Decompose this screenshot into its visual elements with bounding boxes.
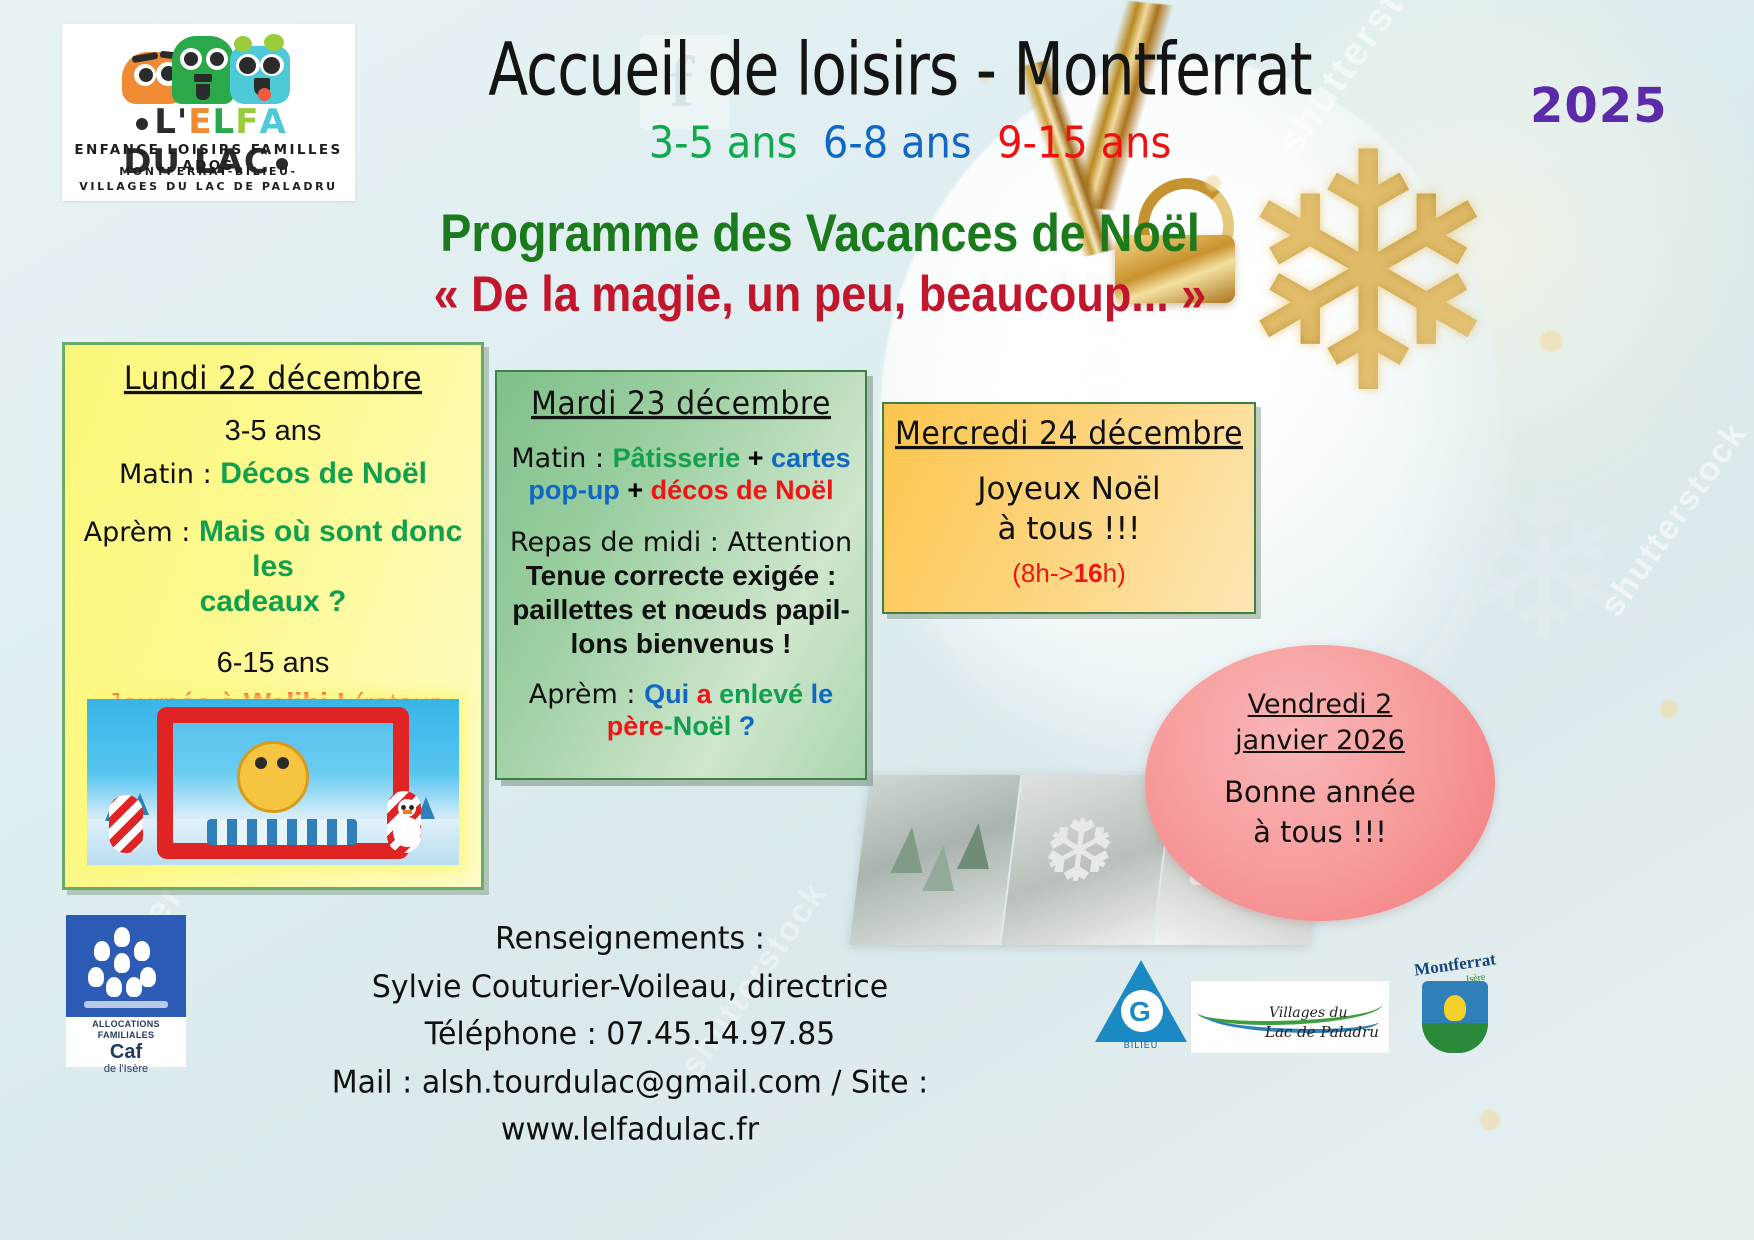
day-card-wednesday: Mercredi 24 décembre Joyeux Noël à tous …	[882, 402, 1256, 614]
bilieu-name: BILIEU	[1095, 1040, 1187, 1050]
wednesday-hours-end: 16	[1074, 558, 1103, 588]
caf-logo-mark	[66, 915, 186, 1017]
contact-title: Renseignements :	[200, 915, 1060, 963]
villages-line2: Lac de Paladru	[1265, 1023, 1379, 1041]
tuesday-afternoon-pere: père	[607, 711, 664, 741]
friday-heading-line1: Vendredi 2	[1145, 687, 1495, 723]
friday-heading-line2: janvier 2026	[1145, 723, 1495, 759]
monday-age-old: 6-15 ans	[75, 646, 471, 680]
logo-part: A	[259, 102, 286, 142]
tuesday-lunch-label: Repas de midi :	[510, 527, 728, 558]
pale-snowflake-icon: ❄	[1460, 470, 1628, 670]
programme-heading: Programme des Vacances de Noël	[274, 203, 1365, 264]
day-card-tuesday: Mardi 23 décembre Matin : Pâtisserie + c…	[495, 370, 867, 780]
sparkle-icon	[1540, 330, 1562, 352]
logo-part: L'	[154, 102, 188, 142]
age-groups: 3-5 ans 6-8 ans 9-15 ans	[560, 118, 1260, 169]
tuesday-activity-patisserie: Pâtisserie	[613, 443, 741, 473]
tuesday-morning-row2: pop-up + décos de Noël	[509, 475, 853, 507]
walibi-park-photo	[87, 699, 459, 865]
age-group-9-15: 9-15 ans	[997, 118, 1171, 169]
tuesday-afternoon-label: Aprèm :	[529, 679, 644, 710]
tuesday-dress-line1: Tenue correcte exigée :	[509, 559, 853, 593]
wednesday-greeting-line2: à tous !!!	[894, 509, 1244, 549]
tuesday-activity-popup: pop-up	[528, 475, 619, 505]
bilieu-logo: G BILIEU	[1095, 960, 1187, 1052]
tuesday-activity-cartes: cartes	[771, 443, 851, 473]
logo-part: E	[188, 102, 212, 142]
monday-age-young: 3-5 ans	[75, 414, 471, 448]
day-card-friday: Vendredi 2 janvier 2026 Bonne année à to…	[1145, 645, 1495, 921]
contact-phone: Téléphone : 07.45.14.97.85	[200, 1011, 1060, 1059]
caf-label: ALLOCATIONS FAMILIALES	[66, 1019, 186, 1041]
friday-greeting-line2: à tous !!!	[1145, 814, 1495, 852]
tuesday-afternoon-qui: Qui	[644, 679, 689, 709]
page-title: Accueil de loisirs - Montferrat	[468, 26, 1333, 112]
contact-block: Renseignements : Sylvie Couturier-Voilea…	[200, 915, 1060, 1154]
logo-part: L	[213, 102, 236, 142]
wednesday-hours: (8h->16h)	[894, 558, 1244, 589]
caf-people-icon	[84, 927, 168, 1005]
tuesday-lunch-attention: Attention	[727, 527, 852, 558]
tuesday-plus-2: +	[620, 475, 651, 505]
wednesday-hours-suffix: h)	[1103, 558, 1126, 588]
tuesday-activity-decos: décos de Noël	[651, 475, 834, 505]
wednesday-greeting-line1: Joyeux Noël	[894, 469, 1244, 509]
age-group-3-5: 3-5 ans	[649, 118, 798, 169]
tuesday-afternoon-question: ?	[731, 711, 755, 741]
monday-afternoon-row: Aprèm : Mais où sont donc les	[75, 514, 471, 585]
tuesday-dress-line2: paillettes et nœuds papil-	[509, 593, 853, 627]
mascot-characters-illustration	[114, 32, 304, 104]
logo-location: MONTFERRAT-BILIEU- VILLAGES DU LAC DE PA…	[62, 164, 355, 194]
monday-afternoon-label: Aprèm :	[84, 517, 199, 548]
tuesday-lunch-row: Repas de midi : Attention	[509, 527, 853, 559]
monday-morning-row: Matin : Décos de Noël	[75, 456, 471, 491]
monday-afternoon-activity-line2: cadeaux ?	[200, 585, 347, 618]
sparkle-icon	[1480, 1110, 1500, 1130]
tuesday-plus-1: +	[740, 443, 771, 473]
logo-location-line1: MONTFERRAT-BILIEU-	[119, 165, 297, 178]
friday-greeting-line1: Bonne année	[1145, 774, 1495, 812]
tuesday-afternoon-row: Aprèm : Qui a enlevé le	[509, 679, 853, 711]
tuesday-afternoon-le: le	[803, 679, 833, 709]
sparkle-icon	[1660, 700, 1678, 718]
poster-canvas: ❄ ❄ ❆ shutterstock shutterstock shutters…	[0, 0, 1754, 1240]
monday-afternoon-activity-line2-wrap: cadeaux ?	[75, 584, 471, 619]
contact-director: Sylvie Couturier-Voileau, directrice	[200, 963, 1060, 1011]
caf-region: de l'Isère	[66, 1063, 186, 1075]
monday-morning-label: Matin :	[119, 459, 220, 490]
caf-label-line2: FAMILIALES	[98, 1030, 155, 1040]
caf-label-line1: ALLOCATIONS	[92, 1019, 160, 1029]
logo-part: F	[235, 102, 259, 142]
tuesday-afternoon-row2: père-Noël ?	[509, 711, 853, 743]
caf-isere-logo: ALLOCATIONS FAMILIALES Caf de l'Isère	[66, 915, 186, 1067]
sparkle-icon	[1205, 175, 1221, 191]
montferrat-shield-icon	[1422, 981, 1488, 1053]
tuesday-morning-row: Matin : Pâtisserie + cartes	[509, 443, 853, 475]
montferrat-logo: Montferrat Isère	[1400, 955, 1510, 1059]
tuesday-afternoon-noel: -Noël	[664, 711, 732, 741]
day-card-monday: Lundi 22 décembre 3-5 ans Matin : Décos …	[62, 342, 484, 890]
year-label: 2025	[1530, 78, 1668, 134]
bilieu-letter: G	[1129, 996, 1151, 1028]
villages-line1: Villages du	[1269, 1005, 1348, 1021]
age-group-6-8: 6-8 ans	[823, 118, 972, 169]
montferrat-name: Montferrat	[1399, 947, 1511, 982]
tuesday-afternoon-a: a	[689, 679, 719, 709]
monday-afternoon-activity-line1: Mais où sont donc les	[199, 515, 462, 583]
villages-du-lac-logo: Villages du Lac de Paladru	[1190, 980, 1390, 1054]
tuesday-morning-label: Matin :	[511, 443, 612, 474]
elfa-du-lac-logo: L'ELFA DU LAC ENFANCE LOISIRS FAMILLES A…	[62, 24, 355, 201]
tuesday-dress-line3: lons bienvenus !	[509, 627, 853, 661]
logo-location-line2: VILLAGES DU LAC DE PALADRU	[79, 180, 337, 193]
logo-dot-left	[136, 118, 148, 130]
wednesday-heading: Mercredi 24 décembre	[894, 415, 1244, 453]
contact-mail-site: Mail : alsh.tourdulac@gmail.com / Site :…	[200, 1059, 1060, 1155]
tuesday-heading: Mardi 23 décembre	[509, 385, 853, 423]
programme-slogan: « De la magie, un peu, beaucoup... »	[262, 265, 1378, 323]
monday-morning-activity: Décos de Noël	[220, 457, 427, 490]
tuesday-afternoon-enleve: enlevé	[719, 679, 803, 709]
monday-heading: Lundi 22 décembre	[75, 360, 471, 398]
caf-name: Caf	[66, 1041, 186, 1064]
wednesday-hours-prefix: (8h->	[1012, 558, 1073, 588]
